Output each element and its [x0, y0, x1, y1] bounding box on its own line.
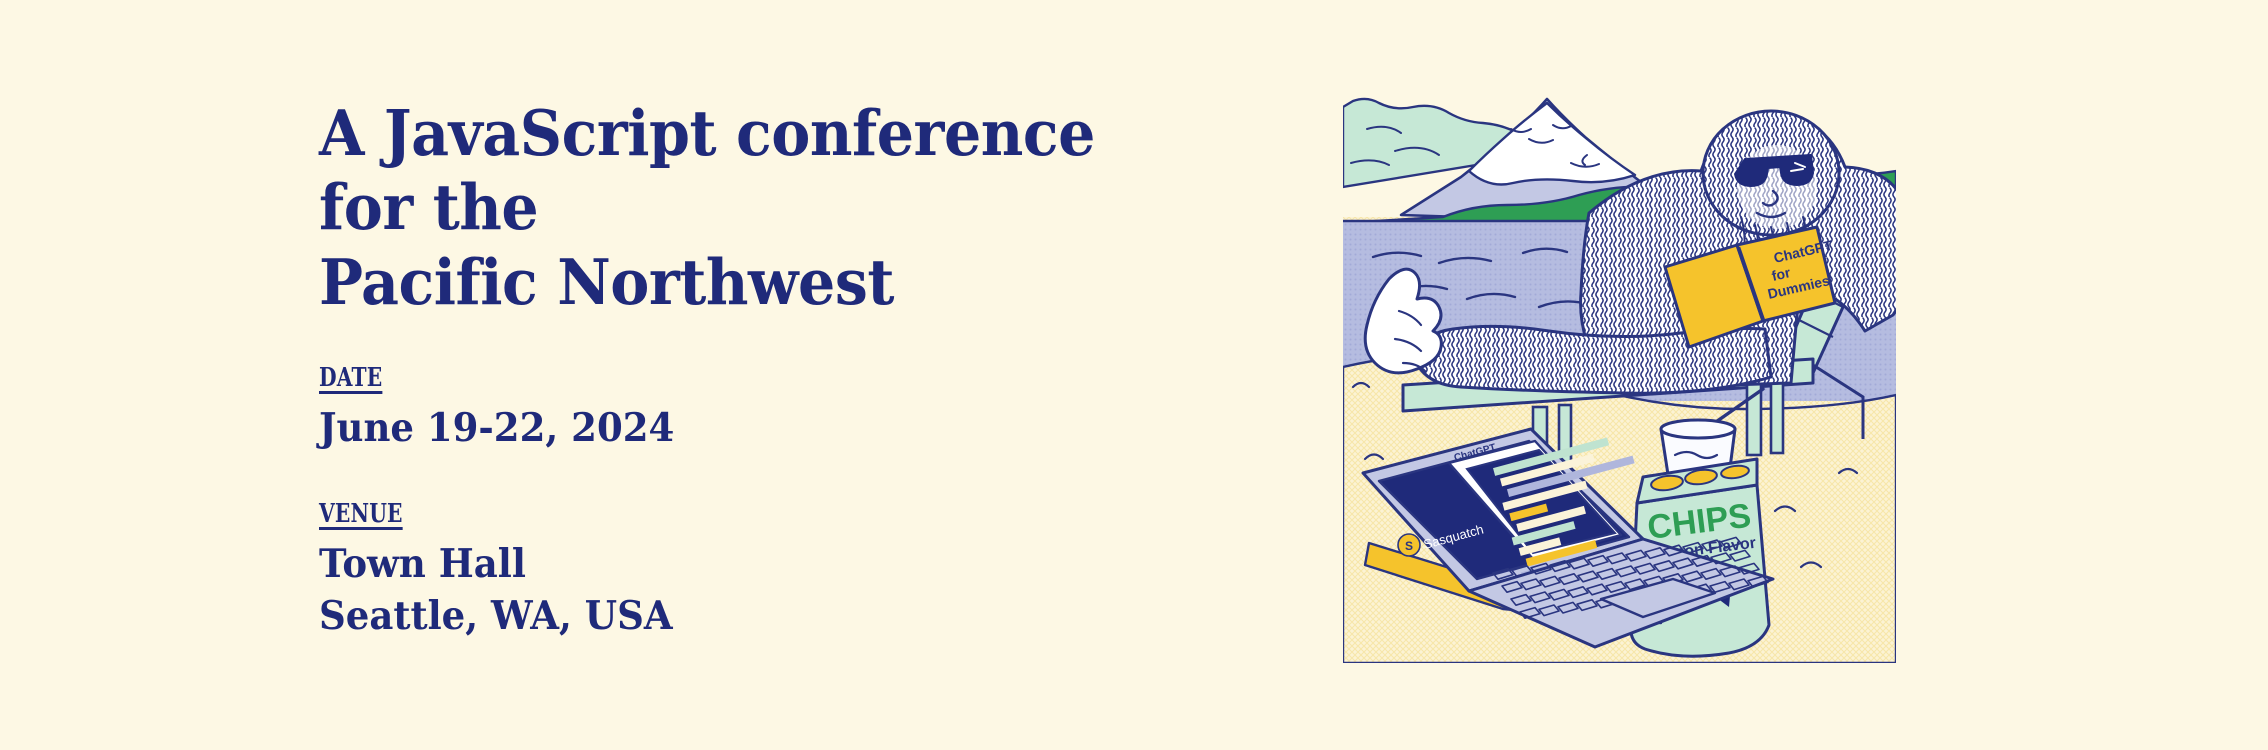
chair-leg-right-2 — [1771, 379, 1783, 453]
detail-date: DATE June 19-22, 2024 — [319, 363, 1249, 455]
sasquatch-illustration: ChatGPT for Dummies — [1343, 67, 1896, 663]
page-title: A JavaScript conference for thePacific N… — [319, 96, 1184, 319]
illustration-canvas: ChatGPT for Dummies — [1343, 67, 1896, 663]
detail-value-date: June 19-22, 2024 — [319, 403, 1203, 455]
hero-section: A JavaScript conference for thePacific N… — [0, 0, 2268, 750]
detail-label-venue: VENUE — [319, 499, 403, 529]
detail-value-venue: Town HallSeattle, WA, USA — [319, 539, 1203, 643]
logo-initial: S — [1405, 539, 1413, 553]
cup-lid — [1661, 420, 1735, 438]
hero-text-column: A JavaScript conference for thePacific N… — [319, 96, 1249, 643]
detail-venue: VENUE Town HallSeattle, WA, USA — [319, 499, 1249, 643]
detail-label-date: DATE — [319, 363, 382, 393]
